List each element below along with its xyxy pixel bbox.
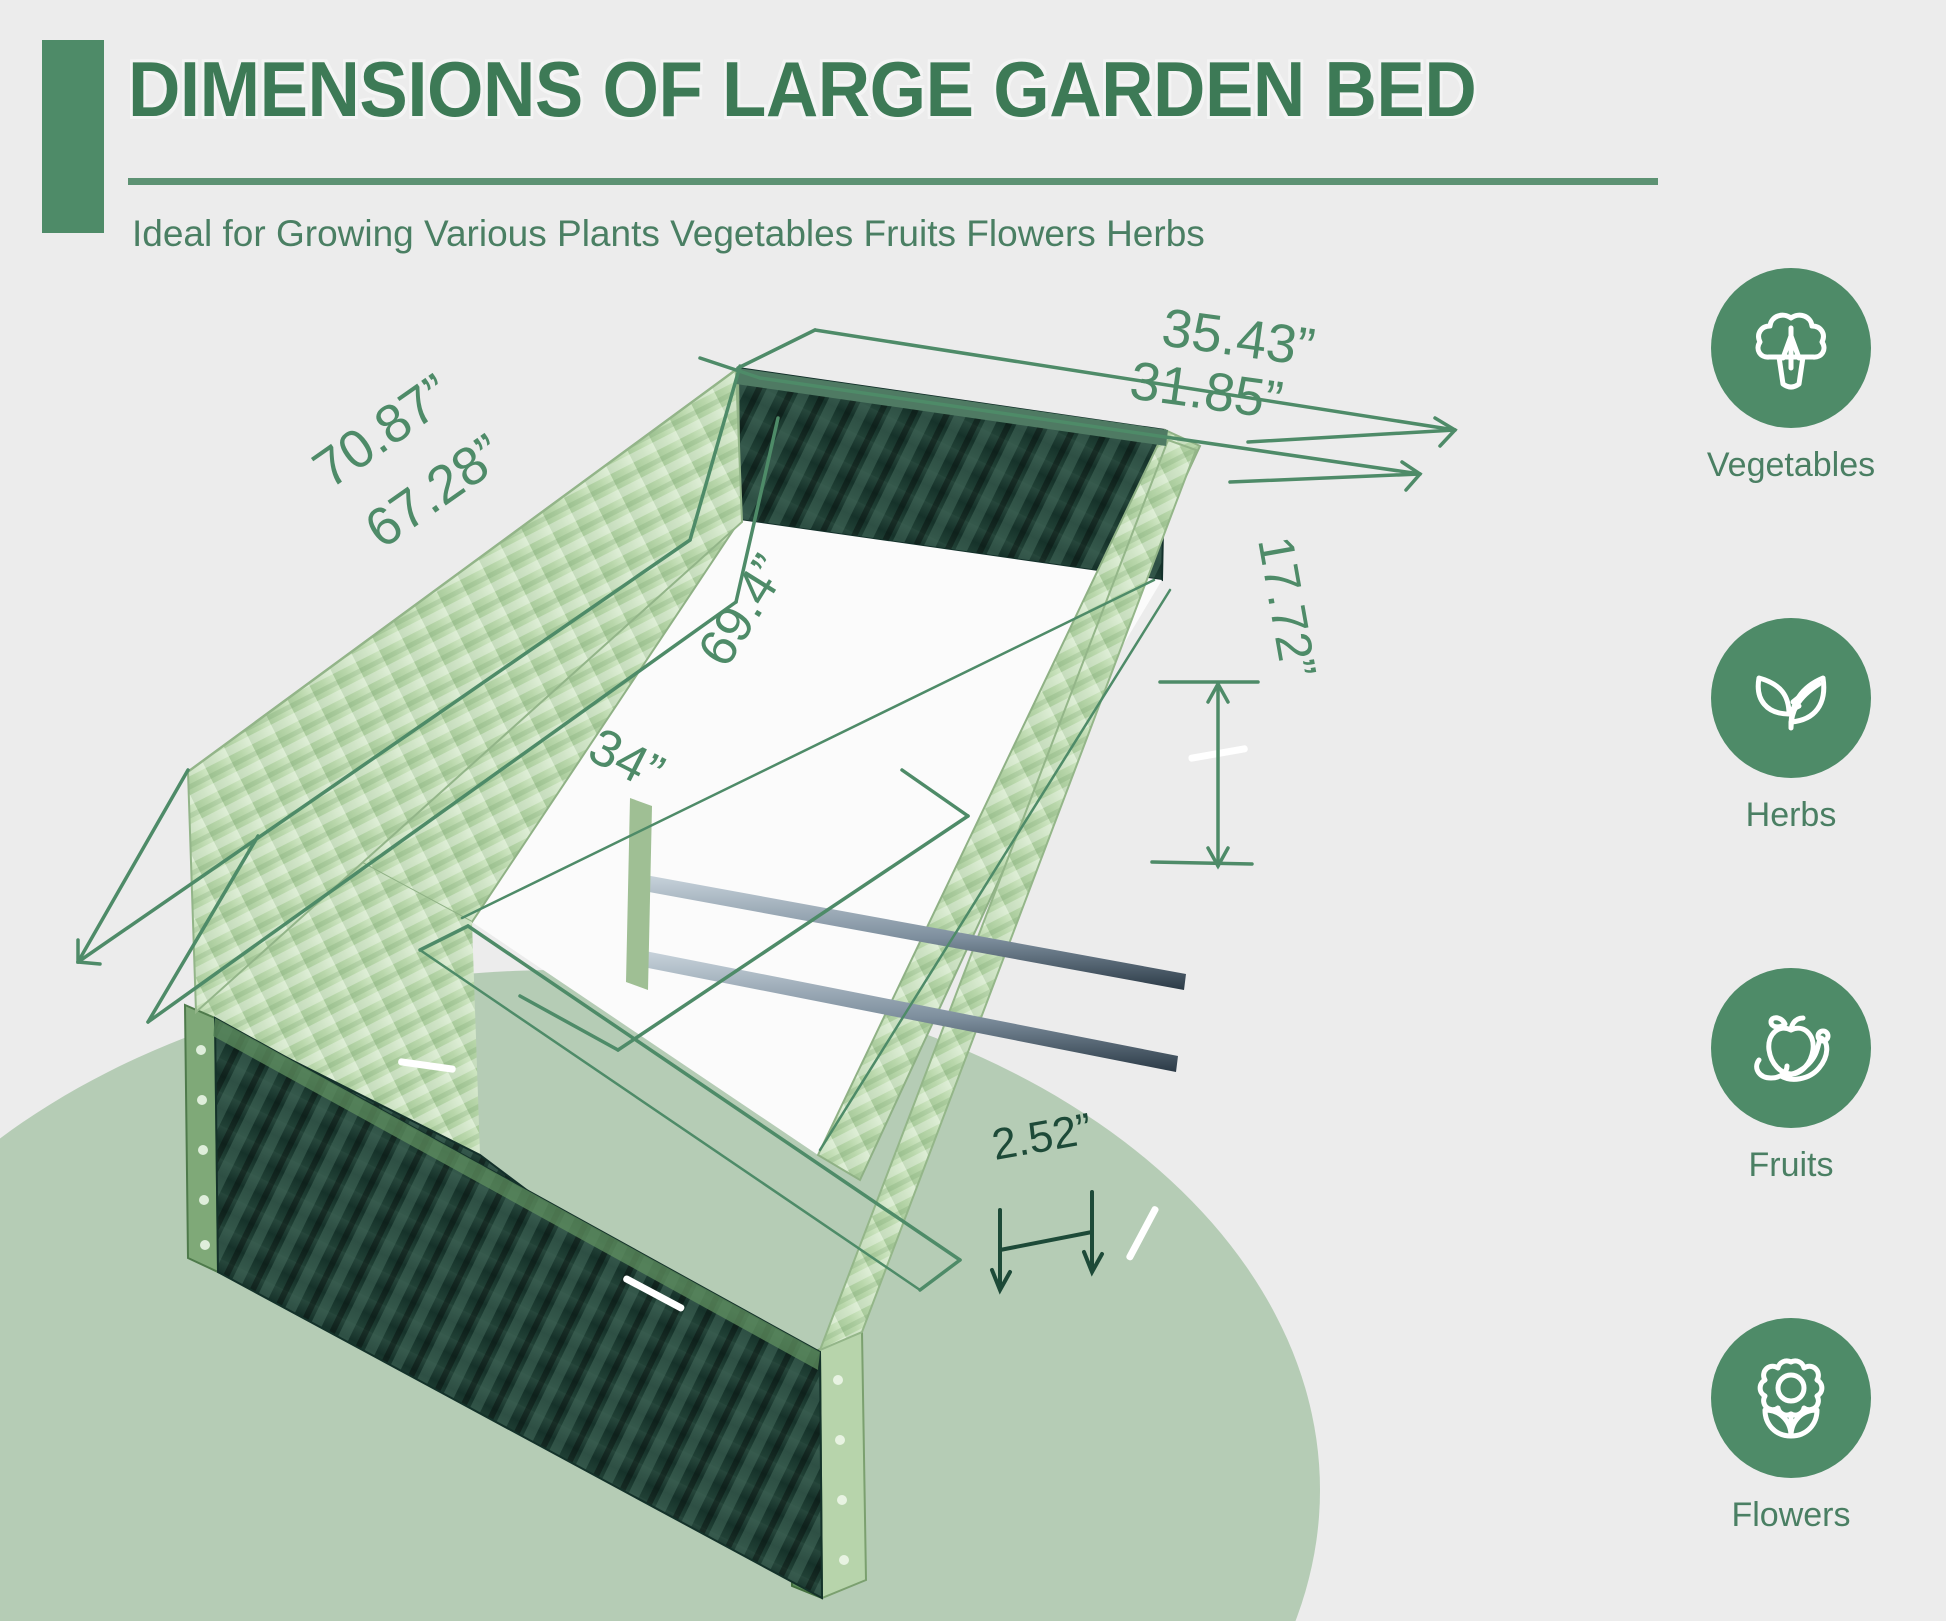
feature-icon-badge [1711, 268, 1871, 428]
feature-label: Fruits [1636, 1146, 1946, 1185]
fruits-icon [1741, 998, 1841, 1098]
dim-label-height: 17.72” [1247, 532, 1327, 681]
header-banner: DIMENSIONS OF LARGE GARDEN BED Ideal for… [0, 0, 1946, 250]
product-dimension-diagram: 35.43” 31.85” 70.87” 67.28” 17.72” 69.4”… [0, 250, 1630, 1621]
feature-item-fruits[interactable]: Fruits [1636, 968, 1946, 1185]
feature-item-flowers[interactable]: Flowers [1636, 1318, 1946, 1535]
feature-label: Herbs [1636, 796, 1946, 835]
feature-list: Vegetables Herbs Fruits [1636, 268, 1946, 1598]
leaves-icon [1741, 648, 1841, 748]
feature-item-vegetables[interactable]: Vegetables [1636, 268, 1946, 485]
feature-label: Flowers [1636, 1496, 1946, 1535]
page-subtitle: Ideal for Growing Various Plants Vegetab… [132, 213, 1205, 255]
feature-icon-badge [1711, 618, 1871, 778]
feature-item-herbs[interactable]: Herbs [1636, 618, 1946, 835]
feature-label: Vegetables [1636, 446, 1946, 485]
flower-icon [1741, 1348, 1841, 1448]
feature-icon-badge [1711, 968, 1871, 1128]
title-underline-rule [128, 178, 1658, 185]
accent-bar [42, 40, 104, 233]
feature-icon-badge [1711, 1318, 1871, 1478]
broccoli-icon [1741, 298, 1841, 398]
page-title: DIMENSIONS OF LARGE GARDEN BED [128, 44, 1476, 135]
